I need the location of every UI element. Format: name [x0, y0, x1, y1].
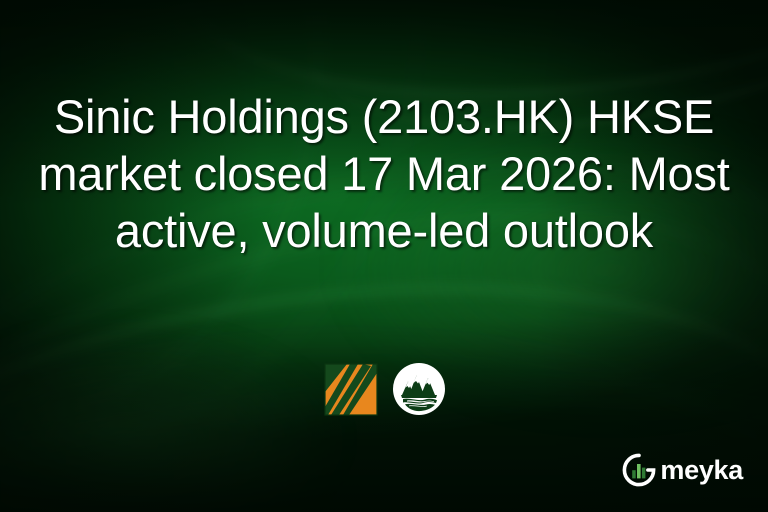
meyka-wordmark: meyka [660, 457, 743, 484]
headline-block: Sinic Holdings (2103.HK) HKSE market clo… [0, 88, 768, 259]
social-card: Sinic Holdings (2103.HK) HKSE market clo… [0, 0, 768, 512]
meyka-brand[interactable]: meyka [621, 452, 743, 488]
meyka-circle-bars-icon [621, 452, 657, 488]
sinic-holdings-logo [323, 361, 379, 417]
company-logo-row [0, 361, 768, 417]
page-title: Sinic Holdings (2103.HK) HKSE market clo… [24, 88, 744, 259]
mountain-circle-logo [392, 362, 446, 416]
